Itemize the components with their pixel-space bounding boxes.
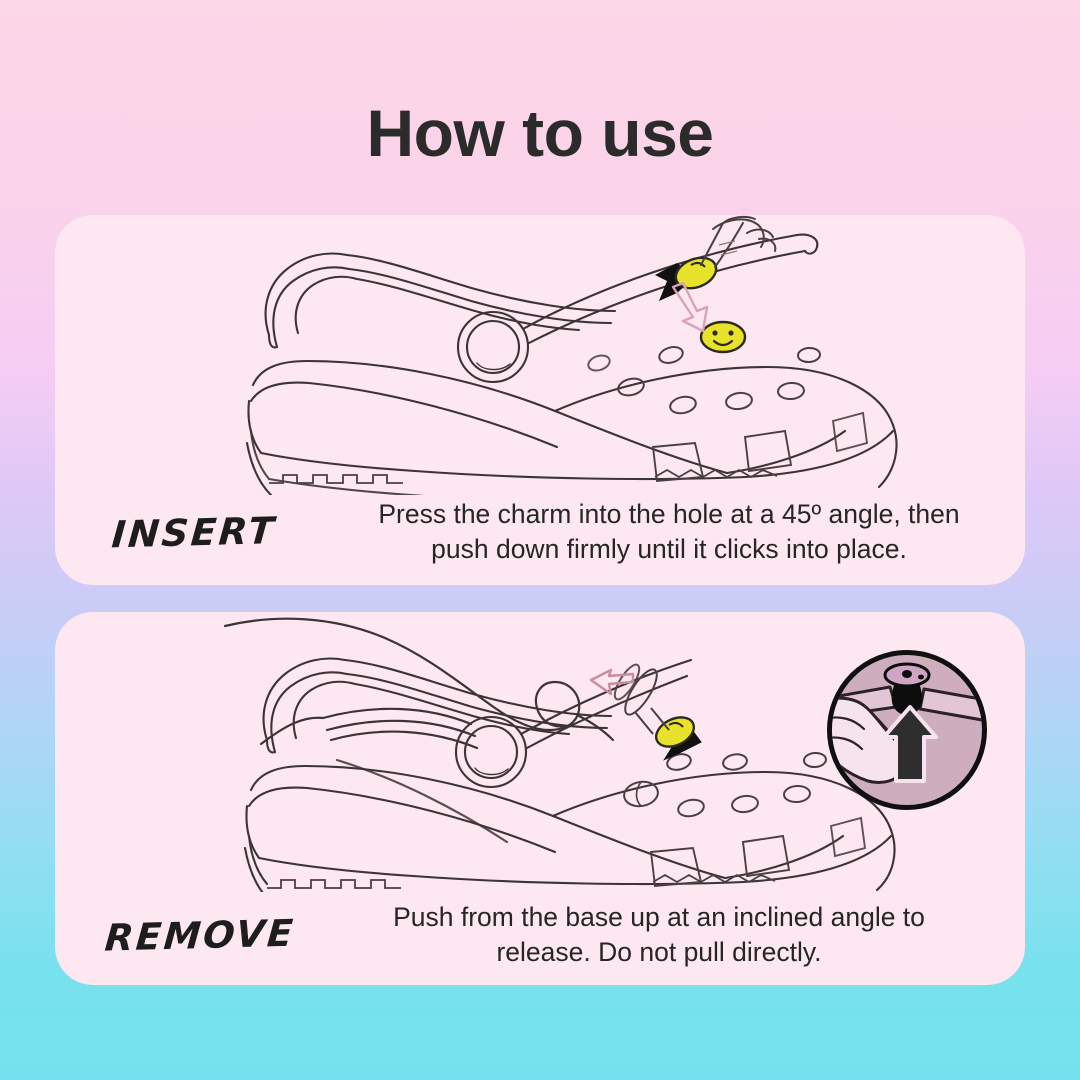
step-label-remove: REMOVE — [53, 910, 357, 961]
step-card-insert: INSERT Press the charm into the hole at … — [55, 215, 1025, 585]
step-text-insert: Press the charm into the hole at a 45º a… — [355, 497, 1025, 567]
page-title: How to use — [0, 100, 1080, 166]
step-label-insert: INSERT — [53, 507, 357, 558]
caption-remove: REMOVE Push from the base up at an incli… — [55, 890, 1025, 980]
step-card-remove: REMOVE Push from the base up at an incli… — [55, 612, 1025, 985]
inserted-charm — [701, 322, 745, 352]
illustration-insert — [55, 215, 1025, 485]
detail-inset-finger-push — [827, 650, 987, 810]
step-text-remove: Push from the base up at an inclined ang… — [355, 900, 1025, 970]
caption-insert: INSERT Press the charm into the hole at … — [55, 487, 1025, 577]
charm-being-removed — [651, 712, 704, 768]
illustration-remove — [55, 612, 1025, 882]
